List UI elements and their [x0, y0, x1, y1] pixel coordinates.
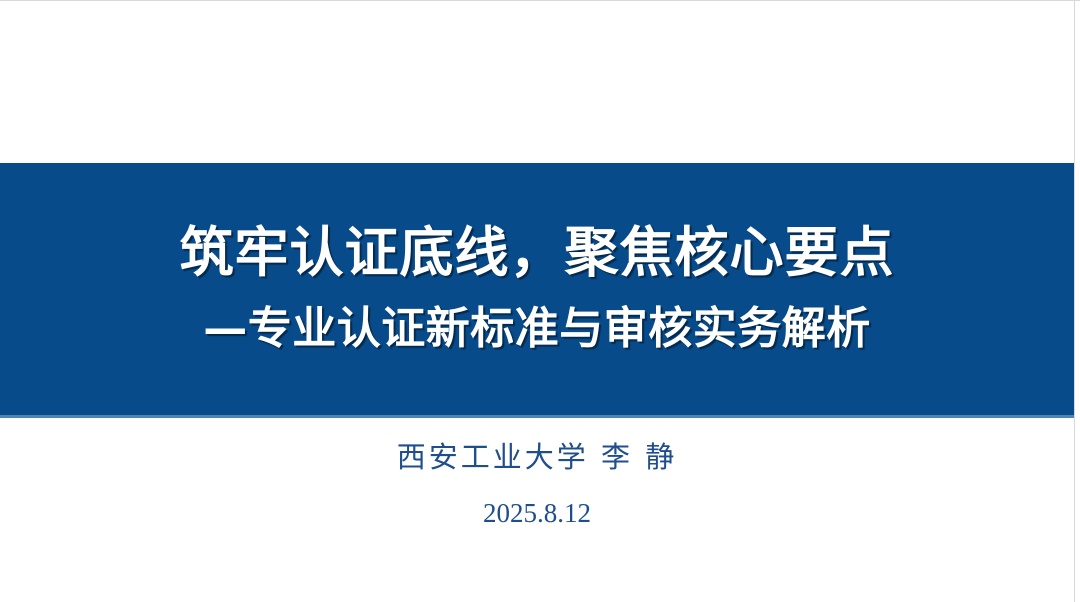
title-banner: 筑牢认证底线，聚焦核心要点 —专业认证新标准与审核实务解析	[0, 163, 1074, 415]
presenter-block: 西安工业大学 李 静 2025.8.12	[0, 440, 1074, 529]
presentation-date: 2025.8.12	[483, 497, 591, 529]
title-banner-content: 筑牢认证底线，聚焦核心要点 —专业认证新标准与审核实务解析	[0, 163, 1074, 415]
slide-right-border	[1074, 0, 1075, 602]
presentation-title-slide: 筑牢认证底线，聚焦核心要点 —专业认证新标准与审核实务解析 西安工业大学 李 静…	[0, 0, 1080, 602]
title-banner-underline	[0, 415, 1074, 418]
slide-subtitle: —专业认证新标准与审核实务解析	[203, 304, 871, 355]
slide-top-border	[0, 0, 1080, 1]
slide-main-title: 筑牢认证底线，聚焦核心要点	[180, 223, 895, 283]
presenter-affiliation-and-name: 西安工业大学 李 静	[397, 440, 677, 475]
